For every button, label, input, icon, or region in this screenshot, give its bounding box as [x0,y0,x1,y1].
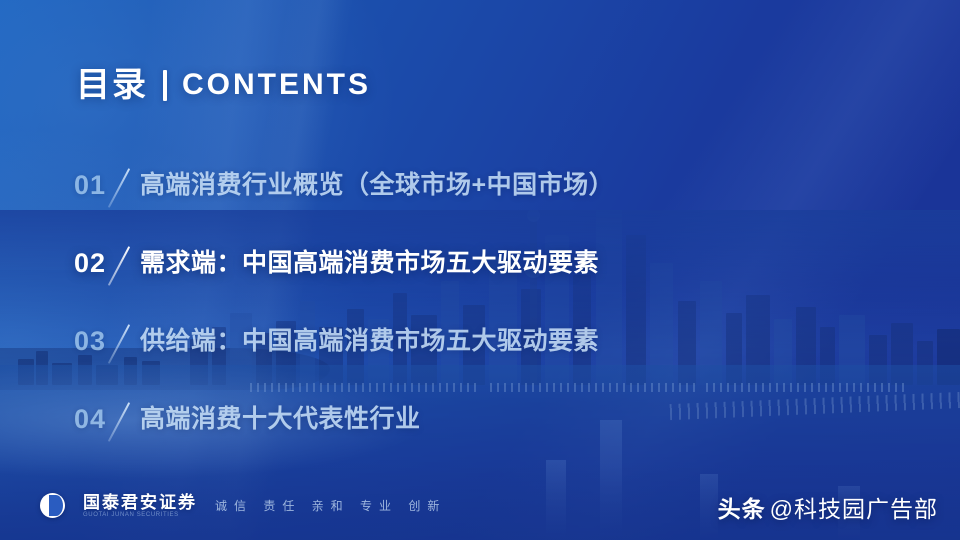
contents-item-03[interactable]: 03 供给端：中国高端消费市场五大驱动要素 [74,318,774,364]
watermark-brand: 头条 [718,490,766,524]
contents-item-label: 供给端：中国高端消费市场五大驱动要素 [140,329,599,354]
contents-item-01[interactable]: 01 高端消费行业概览（全球市场+中国市场） [74,162,774,208]
company-logo-icon [40,493,65,518]
page-title-en: CONTENTS [182,70,371,100]
page-title: 目录 CONTENTS [76,68,371,102]
watermark: 头条 @科技园广告部 [718,490,938,524]
company-name-block: 国泰君安证券 GUOTAI JUNAN SECURITIES [83,494,197,518]
contents-item-label: 高端消费十大代表性行业 [140,407,421,432]
watermark-handle: @科技园广告部 [770,490,938,524]
contents-item-label: 需求端：中国高端消费市场五大驱动要素 [140,251,599,276]
footer-brand: 国泰君安证券 GUOTAI JUNAN SECURITIES 诚信 责任 亲和 … [40,493,446,518]
company-name-cn: 国泰君安证券 [83,494,197,511]
page-title-cn: 目录 [76,68,148,102]
company-slogan: 诚信 责任 亲和 专业 创新 [215,497,446,514]
title-divider-icon [163,70,167,101]
slide-canvas: 目录 CONTENTS 01 高端消费行业概览（全球市场+中国市场） 02 需求… [0,0,960,540]
contents-item-label: 高端消费行业概览（全球市场+中国市场） [140,173,614,198]
contents-list: 01 高端消费行业概览（全球市场+中国市场） 02 需求端：中国高端消费市场五大… [74,162,774,474]
contents-item-02[interactable]: 02 需求端：中国高端消费市场五大驱动要素 [74,240,774,286]
contents-item-04[interactable]: 04 高端消费十大代表性行业 [74,396,774,442]
company-name-en: GUOTAI JUNAN SECURITIES [83,512,197,518]
